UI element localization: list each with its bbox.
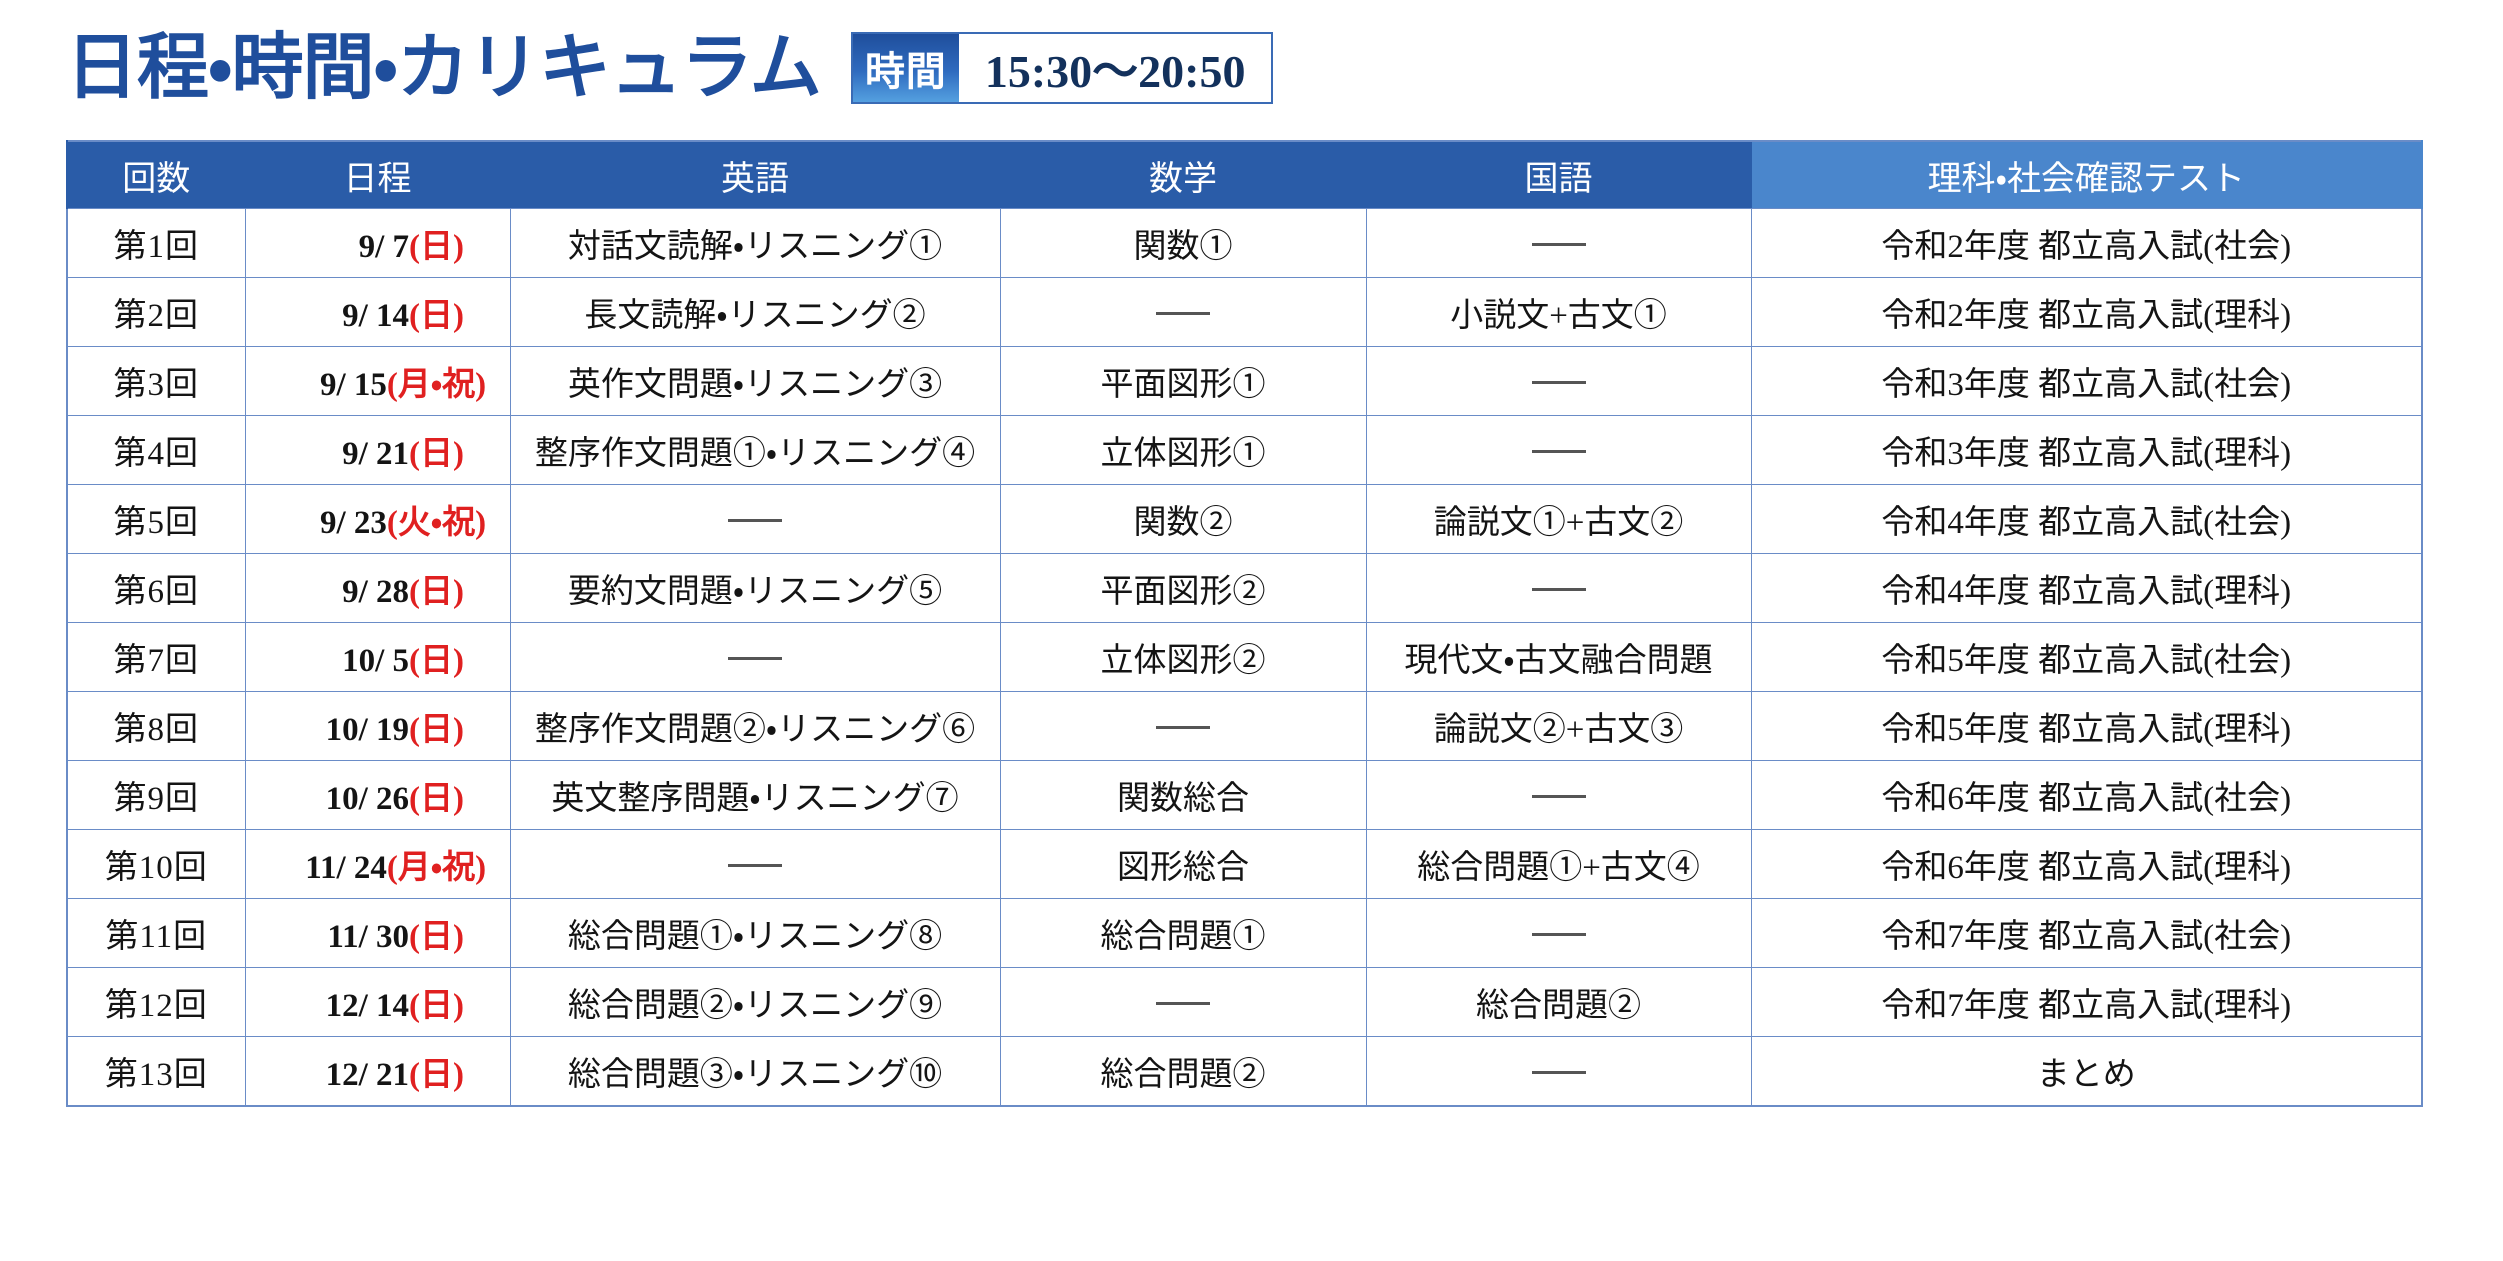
table-row: 第7回10/ 5(日)立体図形②現代文・古文融合問題令和5年度 都立高入試(社会… [67,623,2422,692]
cell-nittei: 11/ 24(月・祝) [245,830,510,899]
schedule-table-container: 回数 日程 英語 数学 国語 理科・社会確認テスト 第1回9/ 7(日)対話文読… [66,140,2421,1107]
cell-kaisu: 第11回 [67,899,245,968]
cell-kokugo: 総合問題①+古文④ [1366,830,1751,899]
cell-sugaku: 関数総合 [1000,761,1366,830]
cell-test: 令和5年度 都立高入試(理科) [1751,692,2422,761]
cell-nittei: 9/ 7(日) [245,209,510,278]
cell-eigo: 総合問題②・リスニング⑨ [510,968,1000,1037]
cell-kokugo [1366,899,1751,968]
cell-kaisu: 第5回 [67,485,245,554]
date-day-of-week: (火・祝) [387,495,486,543]
cell-test: 令和2年度 都立高入試(社会) [1751,209,2422,278]
empty-dash-icon [1532,933,1586,936]
date-month-day: 9/ 28 [291,574,409,611]
empty-dash-icon [1532,795,1586,798]
cell-kaisu: 第10回 [67,830,245,899]
date-month-day: 10/ 26 [291,781,409,818]
column-header-eigo: 英語 [510,141,1000,209]
table-row: 第1回9/ 7(日)対話文読解・リスニング①関数①令和2年度 都立高入試(社会) [67,209,2422,278]
cell-sugaku [1000,692,1366,761]
cell-nittei: 11/ 30(日) [245,899,510,968]
cell-kaisu: 第9回 [67,761,245,830]
table-row: 第11回11/ 30(日)総合問題①・リスニング⑧総合問題①令和7年度 都立高入… [67,899,2422,968]
cell-kaisu: 第1回 [67,209,245,278]
cell-kokugo [1366,554,1751,623]
cell-sugaku: 平面図形② [1000,554,1366,623]
cell-kaisu: 第3回 [67,347,245,416]
cell-sugaku: 立体図形② [1000,623,1366,692]
cell-nittei: 10/ 26(日) [245,761,510,830]
cell-nittei: 9/ 28(日) [245,554,510,623]
date-day-of-week: (日) [409,564,464,612]
date-month-day: 9/ 23 [269,505,387,542]
cell-kokugo: 論説文①+古文② [1366,485,1751,554]
date-month-day: 9/ 7 [291,229,409,266]
page-header: 日程・時間・カリキュラム 時間 15:30〜20:50 [66,20,1273,116]
empty-dash-icon [728,864,782,867]
cell-sugaku [1000,968,1366,1037]
cell-sugaku: 総合問題① [1000,899,1366,968]
date-day-of-week: (日) [409,426,464,474]
cell-nittei: 10/ 5(日) [245,623,510,692]
date-day-of-week: (日) [409,909,464,957]
time-badge-label: 時間 [853,34,959,102]
cell-sugaku: 立体図形① [1000,416,1366,485]
cell-eigo: 総合問題③・リスニング⑩ [510,1037,1000,1107]
date-month-day: 9/ 21 [291,436,409,473]
cell-nittei: 10/ 19(日) [245,692,510,761]
cell-sugaku: 関数② [1000,485,1366,554]
cell-kokugo: 現代文・古文融合問題 [1366,623,1751,692]
cell-test: 令和2年度 都立高入試(理科) [1751,278,2422,347]
cell-nittei: 9/ 14(日) [245,278,510,347]
table-row: 第6回9/ 28(日)要約文問題・リスニング⑤平面図形②令和4年度 都立高入試(… [67,554,2422,623]
date-day-of-week: (月・祝) [387,357,486,405]
cell-kaisu: 第4回 [67,416,245,485]
date-month-day: 11/ 24 [269,850,387,887]
cell-sugaku: 総合問題② [1000,1037,1366,1107]
date-day-of-week: (日) [409,288,464,336]
cell-test: 令和5年度 都立高入試(社会) [1751,623,2422,692]
table-row: 第3回9/ 15(月・祝)英作文問題・リスニング③平面図形①令和3年度 都立高入… [67,347,2422,416]
column-header-kaisu: 回数 [67,141,245,209]
column-header-kokugo: 国語 [1366,141,1751,209]
cell-nittei: 12/ 14(日) [245,968,510,1037]
cell-kokugo: 総合問題② [1366,968,1751,1037]
empty-dash-icon [1532,450,1586,453]
table-header: 回数 日程 英語 数学 国語 理科・社会確認テスト [67,141,2422,209]
cell-test: まとめ [1751,1037,2422,1107]
date-day-of-week: (日) [409,978,464,1026]
cell-eigo: 英作文問題・リスニング③ [510,347,1000,416]
empty-dash-icon [728,657,782,660]
cell-kokugo [1366,1037,1751,1107]
table-row: 第2回9/ 14(日)長文読解・リスニング②小説文+古文①令和2年度 都立高入試… [67,278,2422,347]
cell-eigo: 英文整序問題・リスニング⑦ [510,761,1000,830]
cell-eigo [510,830,1000,899]
table-row: 第10回11/ 24(月・祝)図形総合総合問題①+古文④令和6年度 都立高入試(… [67,830,2422,899]
date-day-of-week: (月・祝) [387,840,486,888]
page-title: 日程・時間・カリキュラム [66,32,821,104]
table-row: 第9回10/ 26(日)英文整序問題・リスニング⑦関数総合令和6年度 都立高入試… [67,761,2422,830]
date-month-day: 9/ 15 [269,367,387,404]
date-month-day: 10/ 5 [291,643,409,680]
cell-kaisu: 第13回 [67,1037,245,1107]
date-day-of-week: (日) [409,219,464,267]
cell-test: 令和3年度 都立高入試(理科) [1751,416,2422,485]
empty-dash-icon [1532,381,1586,384]
cell-kaisu: 第2回 [67,278,245,347]
cell-test: 令和3年度 都立高入試(社会) [1751,347,2422,416]
date-month-day: 12/ 14 [291,988,409,1025]
date-day-of-week: (日) [409,771,464,819]
cell-eigo: 長文読解・リスニング② [510,278,1000,347]
date-month-day: 11/ 30 [291,919,409,956]
date-month-day: 10/ 19 [291,712,409,749]
column-header-test: 理科・社会確認テスト [1751,141,2422,209]
column-header-nittei: 日程 [245,141,510,209]
cell-kaisu: 第7回 [67,623,245,692]
cell-kokugo [1366,761,1751,830]
cell-test: 令和7年度 都立高入試(社会) [1751,899,2422,968]
cell-eigo: 整序作文問題①・リスニング④ [510,416,1000,485]
table-row: 第12回12/ 14(日)総合問題②・リスニング⑨総合問題②令和7年度 都立高入… [67,968,2422,1037]
cell-eigo: 対話文読解・リスニング① [510,209,1000,278]
cell-test: 令和4年度 都立高入試(理科) [1751,554,2422,623]
empty-dash-icon [728,519,782,522]
cell-kokugo [1366,209,1751,278]
cell-nittei: 9/ 15(月・祝) [245,347,510,416]
schedule-table: 回数 日程 英語 数学 国語 理科・社会確認テスト 第1回9/ 7(日)対話文読… [66,140,2423,1107]
cell-kaisu: 第12回 [67,968,245,1037]
table-row: 第5回9/ 23(火・祝)関数②論説文①+古文②令和4年度 都立高入試(社会) [67,485,2422,554]
cell-nittei: 12/ 21(日) [245,1037,510,1107]
table-header-row: 回数 日程 英語 数学 国語 理科・社会確認テスト [67,141,2422,209]
cell-kokugo: 論説文②+古文③ [1366,692,1751,761]
empty-dash-icon [1532,243,1586,246]
date-day-of-week: (日) [409,1047,464,1095]
cell-kaisu: 第8回 [67,692,245,761]
cell-kaisu: 第6回 [67,554,245,623]
date-month-day: 9/ 14 [291,298,409,335]
table-body: 第1回9/ 7(日)対話文読解・リスニング①関数①令和2年度 都立高入試(社会)… [67,209,2422,1107]
cell-test: 令和6年度 都立高入試(理科) [1751,830,2422,899]
date-day-of-week: (日) [409,702,464,750]
cell-eigo [510,485,1000,554]
table-row: 第8回10/ 19(日)整序作文問題②・リスニング⑥論説文②+古文③令和5年度 … [67,692,2422,761]
cell-kokugo [1366,347,1751,416]
empty-dash-icon [1532,1071,1586,1074]
cell-test: 令和4年度 都立高入試(社会) [1751,485,2422,554]
column-header-sugaku: 数学 [1000,141,1366,209]
table-row: 第13回12/ 21(日)総合問題③・リスニング⑩総合問題②まとめ [67,1037,2422,1107]
cell-sugaku: 平面図形① [1000,347,1366,416]
time-badge: 時間 15:30〜20:50 [851,32,1274,104]
empty-dash-icon [1156,726,1210,729]
cell-sugaku: 関数① [1000,209,1366,278]
cell-eigo: 整序作文問題②・リスニング⑥ [510,692,1000,761]
cell-eigo: 要約文問題・リスニング⑤ [510,554,1000,623]
empty-dash-icon [1532,588,1586,591]
cell-eigo [510,623,1000,692]
cell-sugaku: 図形総合 [1000,830,1366,899]
cell-eigo: 総合問題①・リスニング⑧ [510,899,1000,968]
cell-test: 令和6年度 都立高入試(社会) [1751,761,2422,830]
time-badge-value: 15:30〜20:50 [959,34,1272,102]
empty-dash-icon [1156,1002,1210,1005]
date-month-day: 12/ 21 [291,1057,409,1094]
empty-dash-icon [1156,312,1210,315]
cell-nittei: 9/ 21(日) [245,416,510,485]
cell-sugaku [1000,278,1366,347]
cell-kokugo [1366,416,1751,485]
cell-nittei: 9/ 23(火・祝) [245,485,510,554]
date-day-of-week: (日) [409,633,464,681]
table-row: 第4回9/ 21(日)整序作文問題①・リスニング④立体図形①令和3年度 都立高入… [67,416,2422,485]
cell-test: 令和7年度 都立高入試(理科) [1751,968,2422,1037]
cell-kokugo: 小説文+古文① [1366,278,1751,347]
